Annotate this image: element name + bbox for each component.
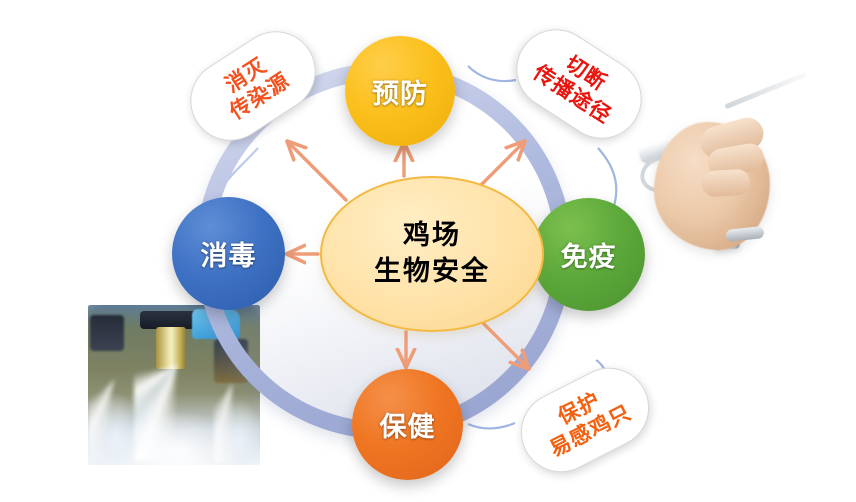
node-disinfection[interactable]: 消毒	[172, 197, 285, 310]
node-disinfection-label: 消毒	[201, 234, 257, 273]
spray-nozzle-left-fitting	[90, 315, 124, 351]
spray-mist-left	[88, 379, 132, 461]
center-title-line-2: 生物安全	[374, 258, 490, 286]
spray-nozzle-brass-tip	[156, 327, 186, 369]
diagram-canvas: 预防 消毒 免疫 保健 鸡场 生物安全 消灭 传染源 切断 传播途径 保护 易感…	[0, 0, 856, 502]
node-prevention-label: 预防	[372, 72, 428, 111]
center-node-farm-biosecurity[interactable]: 鸡场 生物安全	[320, 176, 544, 332]
node-healthcare-label: 保健	[380, 405, 436, 444]
node-immunity-label: 免疫	[561, 235, 617, 274]
finger-ring	[701, 168, 751, 197]
callout-protect-susceptible[interactable]: 保护 易感鸡只	[507, 354, 663, 486]
node-prevention[interactable]: 预防	[345, 36, 455, 146]
node-healthcare[interactable]: 保健	[352, 369, 463, 480]
syringe-needle	[724, 72, 807, 110]
spray-mist-right	[214, 383, 260, 463]
vaccination-syringe-photo	[630, 70, 830, 275]
node-immunity[interactable]: 免疫	[532, 198, 645, 311]
spray-mist	[134, 365, 220, 461]
syringe-knob	[725, 226, 764, 242]
center-title-line-1: 鸡场	[403, 222, 461, 250]
